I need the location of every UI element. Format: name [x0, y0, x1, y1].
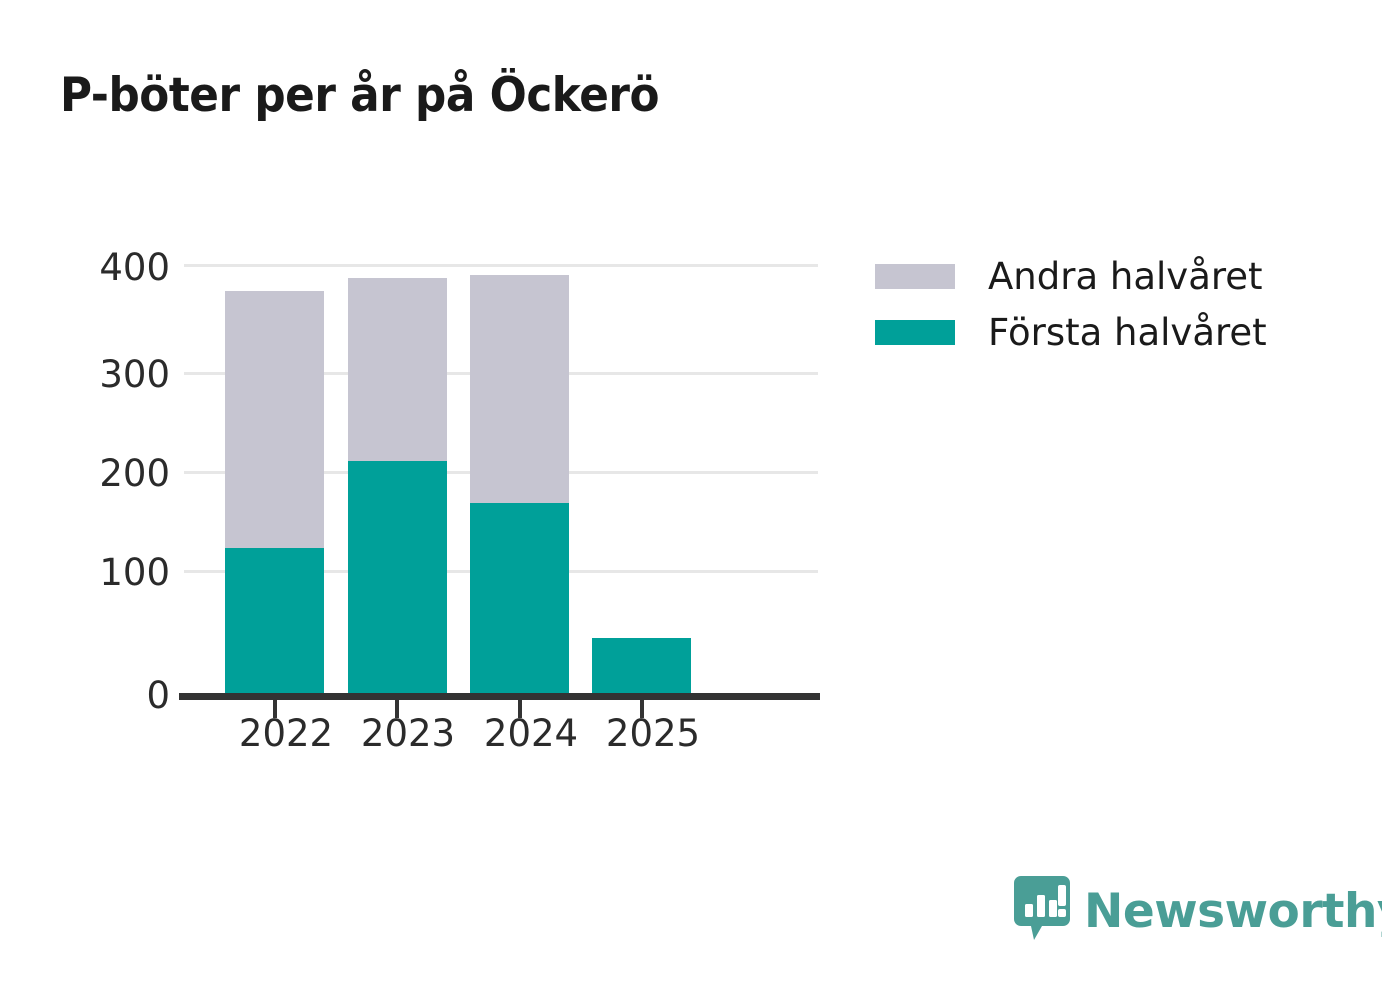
bar-segment-2023-andra-halvaret[interactable]	[348, 278, 447, 461]
y-axis-label-0: 0	[60, 674, 170, 717]
y-axis-label-300: 300	[60, 353, 170, 396]
plot-area	[184, 255, 818, 700]
newsworthy-wordmark: Newsworthy	[1084, 888, 1382, 935]
bar-stack-2023[interactable]	[348, 278, 447, 695]
bar-stack-2022[interactable]	[225, 291, 324, 695]
chart-container: P-böter per år på Öckerö 400 300 200 100…	[0, 0, 1382, 999]
y-axis-label-100: 100	[60, 551, 170, 594]
bar-segment-2022-forsta-halvaret[interactable]	[225, 548, 324, 695]
x-axis-line	[179, 693, 820, 700]
newsworthy-logo: Newsworthy	[1014, 876, 1382, 946]
y-axis-label-400: 400	[60, 246, 170, 289]
legend-swatch-forsta-halvaret	[875, 320, 955, 345]
legend-label-forsta-halvaret: Första halvåret	[988, 311, 1267, 354]
bar-segment-2025-forsta-halvaret[interactable]	[592, 638, 691, 695]
bar-stack-2025[interactable]	[592, 638, 691, 695]
legend-label-andra-halvaret: Andra halvåret	[988, 255, 1263, 298]
bar-stack-2024[interactable]	[470, 275, 569, 695]
y-axis-label-200: 200	[60, 452, 170, 495]
chart-legend: Andra halvåret Första halvåret	[875, 248, 1267, 360]
bar-segment-2024-andra-halvaret[interactable]	[470, 275, 569, 503]
chart-title: P-böter per år på Öckerö	[60, 68, 659, 123]
bar-segment-2022-andra-halvaret[interactable]	[225, 291, 324, 548]
legend-swatch-andra-halvaret	[875, 264, 955, 289]
newsworthy-bar-chart-bubble-icon	[1014, 876, 1070, 946]
bar-segment-2023-forsta-halvaret[interactable]	[348, 461, 447, 695]
bar-segment-2024-forsta-halvaret[interactable]	[470, 503, 569, 695]
legend-item-forsta-halvaret[interactable]: Första halvåret	[875, 304, 1267, 360]
legend-item-andra-halvaret[interactable]: Andra halvåret	[875, 248, 1267, 304]
gridline-400	[184, 264, 818, 267]
x-axis-label-2025: 2025	[573, 712, 733, 755]
